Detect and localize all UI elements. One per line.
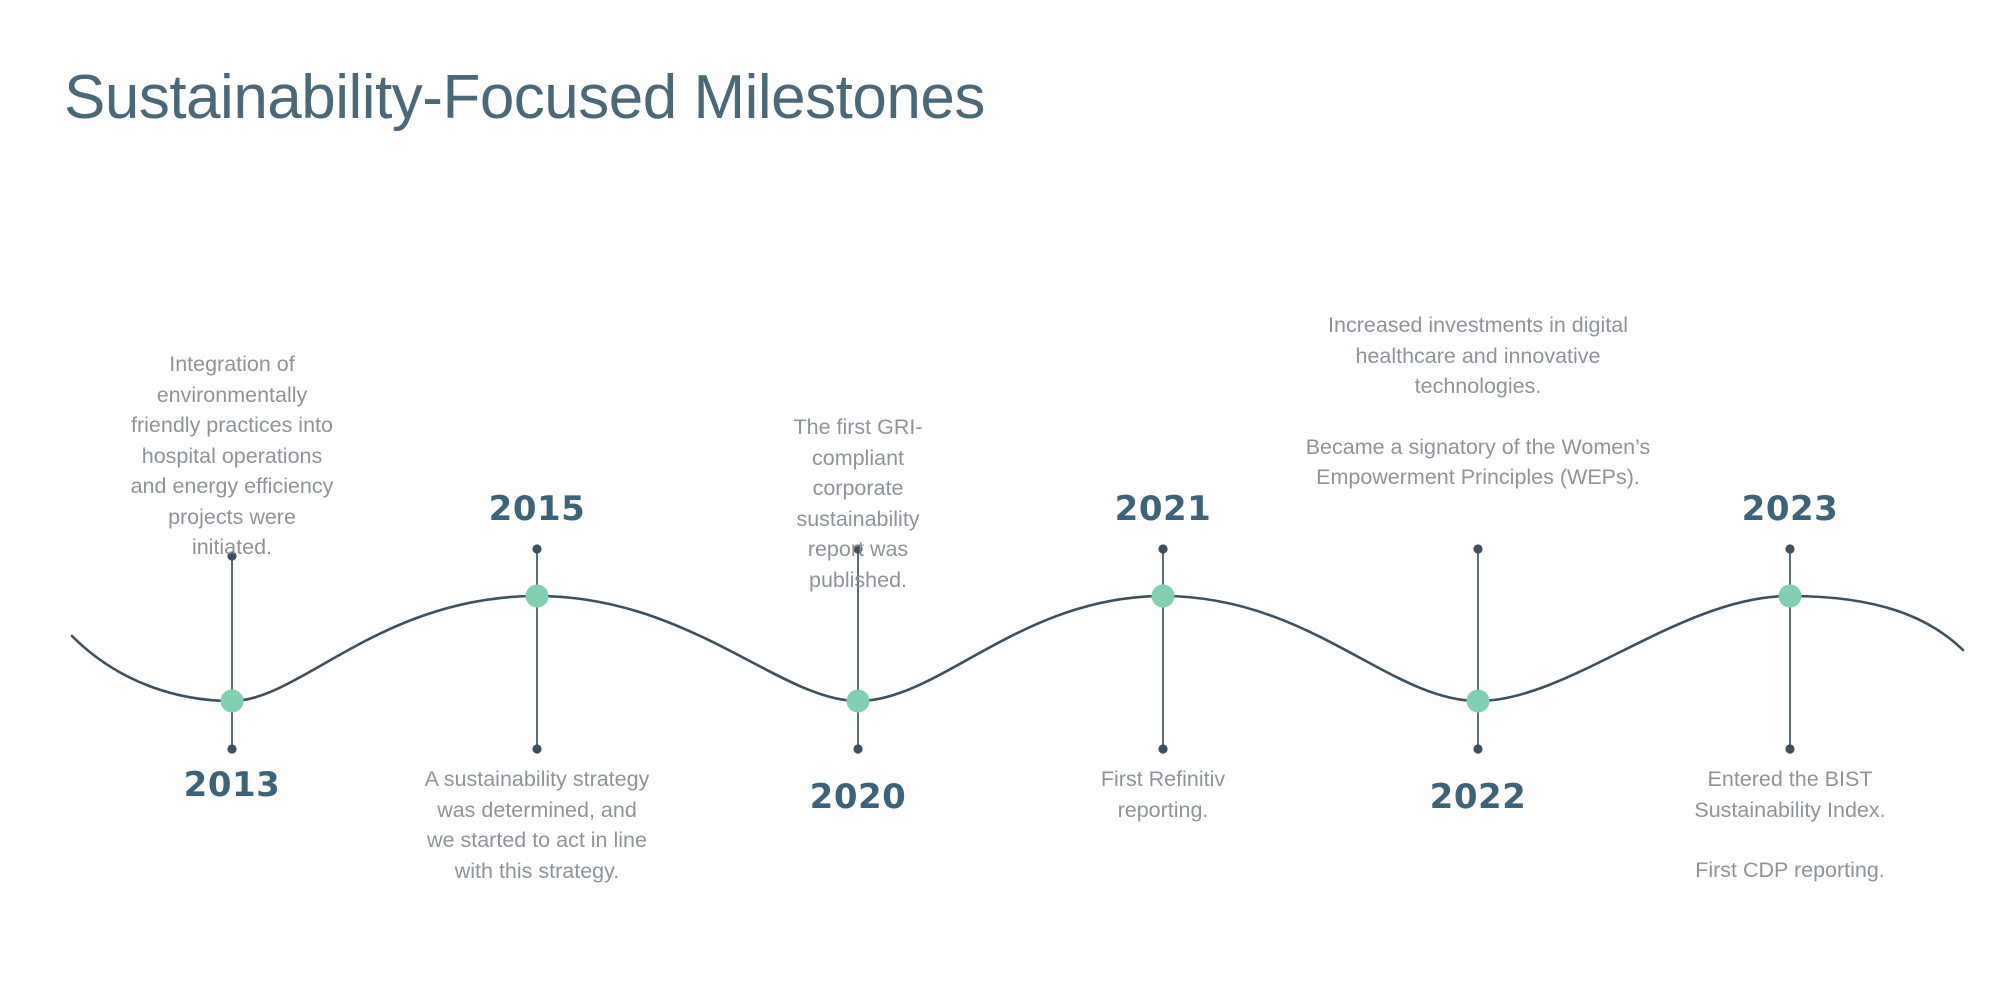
milestone-year-2015: 2015 — [489, 489, 586, 529]
milestone-node-2015[interactable] — [526, 585, 549, 608]
connector-cap-2023-end — [1785, 744, 1794, 753]
milestone-description-2023: Entered the BIST Sustainability Index. F… — [1683, 764, 1898, 886]
connector-cap-2021 — [1158, 544, 1167, 553]
connector-cap-2023 — [1785, 544, 1794, 553]
milestone-year-2021: 2021 — [1115, 489, 1212, 529]
milestone-paragraph: A sustainability strategy was determined… — [422, 764, 652, 886]
milestone-description-2013: Integration of environmentally friendly … — [127, 349, 337, 563]
milestone-node-2013[interactable] — [221, 690, 244, 713]
milestone-year-2020: 2020 — [810, 777, 907, 817]
milestone-year-2013: 2013 — [184, 765, 281, 805]
milestone-node-2020[interactable] — [847, 690, 870, 713]
milestone-node-2023[interactable] — [1779, 585, 1802, 608]
wave-path — [72, 596, 1963, 701]
timeline-infographic: Integration of environmentally friendly … — [0, 0, 2000, 986]
connector-cap-2015-end — [532, 744, 541, 753]
milestone-paragraph: Entered the BIST Sustainability Index. — [1683, 764, 1898, 825]
milestone-paragraph: First Refinitiv reporting. — [1083, 764, 1243, 825]
milestone-description-2015: A sustainability strategy was determined… — [422, 764, 652, 886]
connector-cap-2021-end — [1158, 744, 1167, 753]
milestone-paragraph: Integration of environmentally friendly … — [127, 349, 337, 563]
milestone-description-2020: The first GRI-compliant corporate sustai… — [766, 412, 951, 595]
milestone-node-2022[interactable] — [1467, 690, 1490, 713]
connector-cap-2022 — [1473, 544, 1482, 553]
milestone-year-2022: 2022 — [1430, 777, 1527, 817]
milestone-description-2021: First Refinitiv reporting. — [1083, 764, 1243, 825]
milestone-node-2021[interactable] — [1152, 585, 1175, 608]
milestone-description-2022: Increased investments in digital healthc… — [1298, 310, 1658, 493]
milestone-paragraph: Increased investments in digital healthc… — [1298, 310, 1658, 402]
connector-cap-2013-end — [227, 744, 236, 753]
connector-cap-2022-end — [1473, 744, 1482, 753]
milestone-paragraph: First CDP reporting. — [1683, 855, 1898, 886]
milestone-paragraph: The first GRI-compliant corporate sustai… — [766, 412, 951, 595]
connector-cap-2015 — [532, 544, 541, 553]
milestone-year-2023: 2023 — [1742, 489, 1839, 529]
connector-cap-2020-end — [853, 744, 862, 753]
milestone-paragraph: Became a signatory of the Women’s Empowe… — [1298, 432, 1658, 493]
